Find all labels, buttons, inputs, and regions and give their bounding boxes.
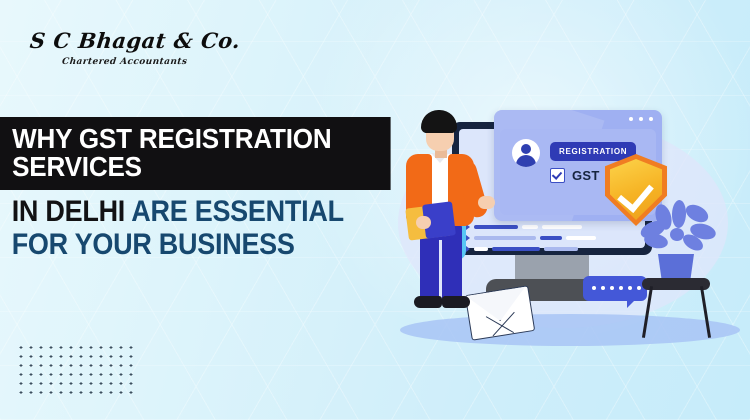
- gst-label: GST: [572, 168, 600, 183]
- typing-dots: [592, 286, 641, 290]
- plant-leaf: [672, 200, 687, 228]
- typing-dot: [628, 286, 632, 290]
- monitor-neck: [515, 255, 589, 281]
- headline-line-2-dark: IN DELHI: [12, 195, 132, 228]
- character-shoe: [414, 296, 442, 308]
- window-dot: [629, 117, 633, 121]
- plant-leaf: [643, 232, 669, 251]
- avatar-body: [516, 155, 536, 167]
- text-bar: [522, 225, 538, 229]
- dot-grid-decoration: [14, 341, 138, 399]
- typing-dot: [601, 286, 605, 290]
- headline-line-3: FOR YOUR BUSINESS: [0, 229, 378, 261]
- character-hand-holding: [416, 216, 431, 229]
- gst-checkbox-row[interactable]: GST: [550, 168, 600, 183]
- illustration-floor-shadow: [400, 314, 740, 346]
- typing-dot: [610, 286, 614, 290]
- headline-line-2: IN DELHI ARE ESSENTIAL: [0, 196, 378, 228]
- text-bar: [542, 225, 582, 229]
- headline-block: WHY GST REGISTRATION SERVICES IN DELHI A…: [0, 117, 420, 262]
- character-leg-split: [439, 240, 442, 302]
- typing-dot: [637, 286, 641, 290]
- chat-bubble-icon: [583, 276, 647, 301]
- typing-dot: [592, 286, 596, 290]
- promotional-banner: S C Bhagat & Co. Chartered Accountants W…: [0, 0, 750, 420]
- character-hair-front: [422, 116, 442, 130]
- businessman-character: [394, 110, 490, 318]
- character-shoe: [442, 296, 470, 308]
- avatar-head: [521, 144, 531, 154]
- text-bar: [492, 247, 540, 251]
- headline-line-2-blue: ARE ESSENTIAL: [131, 195, 344, 228]
- brand-name: S C Bhagat & Co.: [29, 28, 262, 53]
- window-controls: [629, 117, 653, 121]
- text-bar: [566, 236, 596, 240]
- brand-logo[interactable]: S C Bhagat & Co. Chartered Accountants: [30, 28, 260, 67]
- character-hand-pointing: [478, 196, 495, 209]
- plant-leaf: [683, 201, 711, 226]
- brand-tagline: Chartered Accountants: [61, 57, 260, 67]
- text-bar: [544, 247, 578, 251]
- hero-illustration: REGISTRATION GST: [390, 96, 750, 366]
- headline-line-1: WHY GST REGISTRATION SERVICES: [0, 117, 391, 190]
- user-avatar-icon: [512, 139, 540, 167]
- gst-checkbox-icon[interactable]: [550, 168, 565, 183]
- window-dot: [639, 117, 643, 121]
- potted-plant-icon: [638, 200, 718, 262]
- typing-dot: [619, 286, 623, 290]
- text-bar: [540, 236, 562, 240]
- window-dot: [649, 117, 653, 121]
